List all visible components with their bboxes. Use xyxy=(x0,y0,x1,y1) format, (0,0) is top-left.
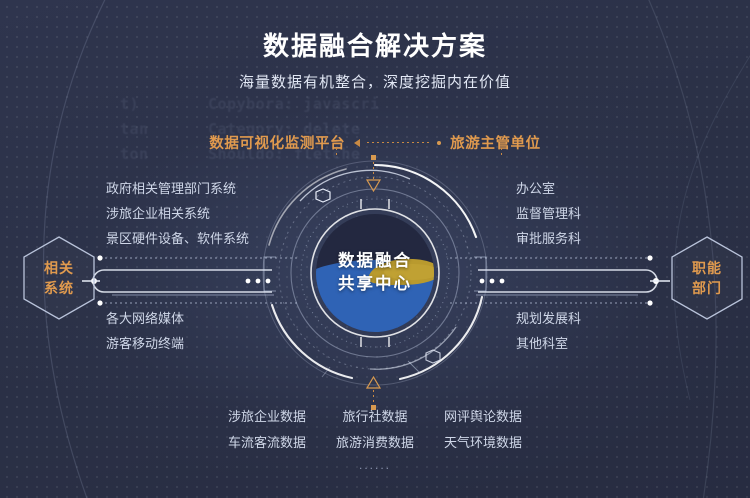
infographic-canvas: t) tan ton Copybora: javascri Category: … xyxy=(0,0,750,498)
list-item: 景区硬件设备、软件系统 xyxy=(106,226,249,251)
list-item: 网评舆论数据 xyxy=(429,404,537,430)
bottom-column-1: 涉旅企业数据 车流客流数据 xyxy=(213,404,321,456)
bottom-data-grid: 涉旅企业数据 车流客流数据 旅行社数据 旅游消费数据 网评舆论数据 天气环境数据 xyxy=(0,404,750,456)
left-column-top: 政府相关管理部门系统 涉旅企业相关系统 景区硬件设备、软件系统 xyxy=(106,176,249,251)
list-item: 办公室 xyxy=(516,176,581,201)
list-item: 其他科室 xyxy=(516,331,581,356)
bottom-column-2: 旅行社数据 旅游消费数据 xyxy=(321,404,429,456)
right-column-bottom: 规划发展科 其他科室 xyxy=(516,306,581,356)
top-down-arrow xyxy=(362,155,388,197)
list-item: 车流客流数据 xyxy=(213,430,321,456)
bottom-column-3: 网评舆论数据 天气环境数据 xyxy=(429,404,537,456)
hexagon-left-label: 相关 系统 xyxy=(44,258,74,298)
hexagon-functional-departments[interactable]: 职能 部门 xyxy=(668,234,746,322)
list-item: 涉旅企业数据 xyxy=(213,404,321,430)
bottom-ellipsis: ...... xyxy=(0,458,750,472)
hexagon-right-line2: 部门 xyxy=(692,278,722,298)
hexagon-right-line1: 职能 xyxy=(692,258,722,278)
list-item: 旅行社数据 xyxy=(321,404,429,430)
list-item: 天气环境数据 xyxy=(429,430,537,456)
right-column-top: 办公室 监督管理科 审批服务科 xyxy=(516,176,581,251)
sphere-gold-highlight xyxy=(384,264,434,281)
list-item: 政府相关管理部门系统 xyxy=(106,176,249,201)
hexagon-related-systems[interactable]: 相关 系统 xyxy=(20,234,98,322)
core-sphere xyxy=(316,214,434,332)
list-item: 涉旅企业相关系统 xyxy=(106,201,249,226)
left-column-bottom: 各大网络媒体 游客移动终端 xyxy=(106,306,184,356)
list-item: 各大网络媒体 xyxy=(106,306,184,331)
hexagon-left-line1: 相关 xyxy=(44,258,74,278)
list-item: 游客移动终端 xyxy=(106,331,184,356)
hexagon-left-line2: 系统 xyxy=(44,278,74,298)
list-item: 审批服务科 xyxy=(516,226,581,251)
list-item: 旅游消费数据 xyxy=(321,430,429,456)
list-item: 规划发展科 xyxy=(516,306,581,331)
list-item: 监督管理科 xyxy=(516,201,581,226)
hexagon-right-label: 职能 部门 xyxy=(692,258,722,298)
